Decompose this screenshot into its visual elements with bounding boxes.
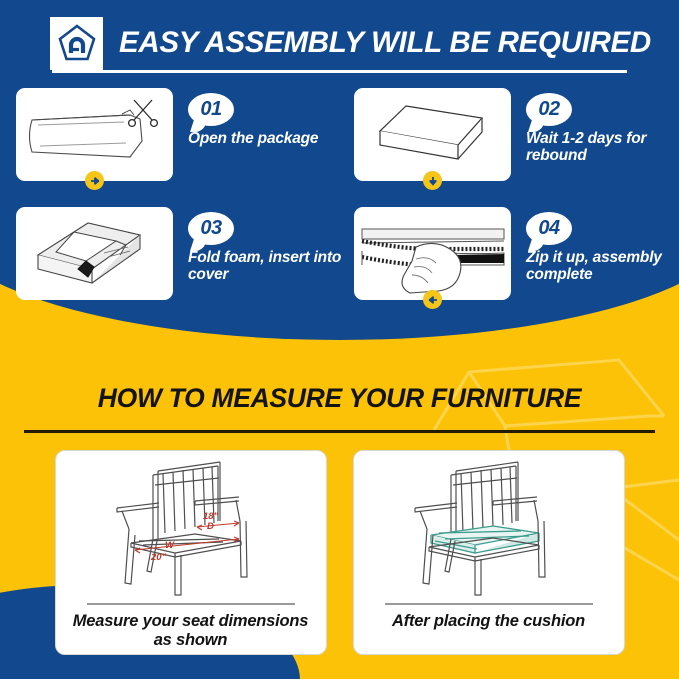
chair-with-dimensions-icon: 18" D W 20" [91, 455, 291, 603]
dimension-width-value: 20" [150, 552, 167, 563]
measure-card-divider [87, 603, 295, 605]
measure-card-cushion-art [389, 455, 589, 603]
step-04-arrow-badge [423, 290, 442, 309]
page-title: EASY ASSEMBLY WILL BE REQUIRED [119, 26, 651, 60]
dimension-depth-letter: D [207, 521, 214, 532]
measure-card-dimensions: 18" D W 20" Measure your seat dimensions… [55, 450, 327, 655]
step-03-number-badge: 03 [188, 212, 234, 245]
step-04: 04 Zip it up, assembly complete [354, 207, 679, 319]
measure-divider [24, 430, 655, 433]
hand-zipper-icon [354, 207, 511, 300]
header: EASY ASSEMBLY WILL BE REQUIRED [0, 8, 679, 78]
step-03: 03 Fold foam, insert into cover [16, 207, 346, 319]
measure-card-cushion-caption: After placing the cushion [384, 612, 593, 631]
infographic-page: EASY ASSEMBLY WILL BE REQUIRED [0, 0, 679, 679]
step-03-label: Fold foam, insert into cover [188, 249, 346, 284]
chair-with-cushion-icon [389, 455, 589, 603]
step-01-label: Open the package [188, 130, 318, 147]
step-04-label: Zip it up, assembly complete [526, 249, 679, 284]
flat-foam-cushion-icon [354, 88, 511, 181]
step-02-illustration-card [354, 88, 511, 181]
step-01: 01 Open the package [16, 88, 346, 200]
dimension-width-letter: W [165, 540, 175, 551]
step-02-arrow-badge [423, 171, 442, 190]
arrow-right-icon [89, 175, 101, 187]
step-02: 02 Wait 1-2 days for rebound [354, 88, 679, 200]
measure-card-dimensions-art: 18" D W 20" [91, 455, 291, 603]
header-divider [52, 70, 627, 73]
measure-cards: 18" D W 20" Measure your seat dimensions… [0, 450, 679, 655]
rolled-package-scissors-icon [16, 88, 173, 181]
step-01-number-badge: 01 [188, 93, 234, 126]
step-02-number-badge: 02 [526, 93, 572, 126]
step-04-illustration-card [354, 207, 511, 300]
house-pentagon-icon [57, 23, 97, 63]
foam-into-cover-icon [16, 207, 173, 300]
arrow-left-icon [427, 294, 439, 306]
step-04-number-badge: 04 [526, 212, 572, 245]
step-01-text: 01 Open the package [188, 88, 318, 147]
logo-box [50, 17, 103, 70]
arrow-down-icon [427, 175, 439, 187]
step-01-illustration-card [16, 88, 173, 181]
step-02-text: 02 Wait 1-2 days for rebound [526, 88, 679, 165]
assembly-steps: 01 Open the package 02 Wait [0, 88, 679, 319]
measure-card-divider [385, 603, 593, 605]
step-03-text: 03 Fold foam, insert into cover [188, 207, 346, 284]
step-02-label: Wait 1-2 days for rebound [526, 130, 679, 165]
measure-section-title: HOW TO MEASURE YOUR FURNITURE [0, 383, 679, 414]
measure-card-dimensions-caption: Measure your seat dimensions as shown [56, 612, 326, 651]
step-04-text: 04 Zip it up, assembly complete [526, 207, 679, 284]
step-01-arrow-badge [85, 171, 104, 190]
step-03-illustration-card [16, 207, 173, 300]
measure-card-cushion: After placing the cushion [353, 450, 625, 655]
